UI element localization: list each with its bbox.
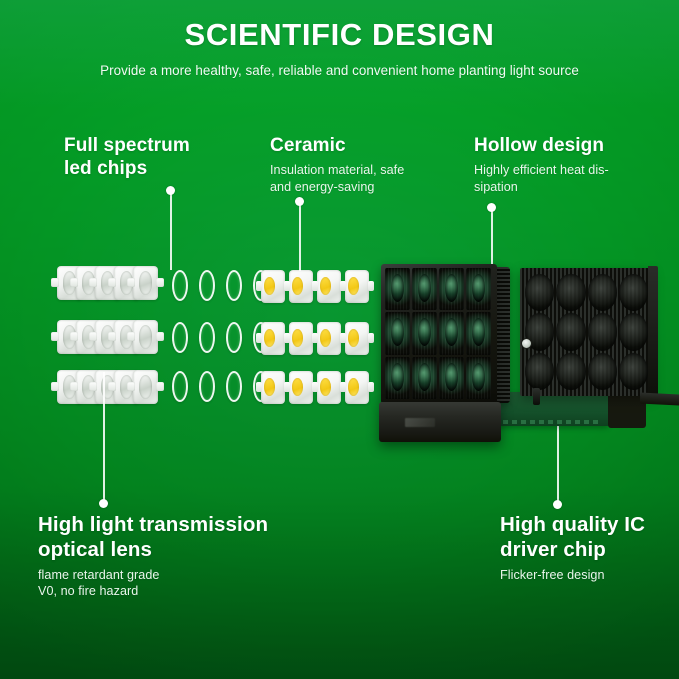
optical-lens-row — [172, 322, 269, 353]
led-chip-strip-row — [57, 266, 152, 300]
ceramic-led-package — [289, 371, 313, 404]
header: SCIENTIFIC DESIGN Provide a more healthy… — [0, 18, 679, 78]
callout-title: Ceramic — [270, 134, 470, 157]
optical-lens-ring — [172, 322, 188, 353]
front-lens-cell — [466, 312, 491, 354]
callout-title: High light transmission optical lens — [38, 512, 308, 562]
front-lens-cell — [385, 357, 410, 399]
leader-line-ic-driver-chip — [557, 418, 559, 506]
callout-title: High quality IC driver chip — [500, 512, 679, 562]
front-lens-cell — [466, 268, 491, 310]
front-lens-cell — [412, 312, 437, 354]
front-lens-cell — [412, 268, 437, 310]
led-grow-light-front-view — [381, 264, 514, 428]
leader-line-ceramic — [299, 201, 301, 271]
rear-heatsink-body — [520, 268, 653, 396]
rear-lens-bump — [556, 353, 585, 390]
front-lens-cell — [385, 312, 410, 354]
ceramic-led-package — [317, 270, 341, 303]
ceramic-led-package — [317, 371, 341, 404]
optical-lens-ring — [226, 322, 242, 353]
front-lens-cell — [466, 357, 491, 399]
leader-dot-ic-driver-chip — [553, 500, 562, 509]
leader-dot-led-chips — [166, 186, 175, 195]
led-grow-light-rear-view — [520, 268, 668, 420]
leader-dot-ceramic — [295, 197, 304, 206]
rear-lens-bump — [619, 313, 648, 350]
callout-high-quality-ic-driver-chip: High quality IC driver chip Flicker-free… — [500, 512, 679, 583]
callout-title: Full spectrum led chips — [64, 134, 274, 180]
rear-lens-bump — [588, 274, 617, 311]
rear-lens-bump — [556, 313, 585, 350]
brand-logo — [405, 418, 435, 427]
ceramic-led-package — [289, 322, 313, 355]
led-chip — [133, 320, 158, 354]
base-housing — [379, 402, 501, 442]
adjustment-knob-icon — [521, 338, 532, 349]
callout-subtitle: Highly efficient heat dis- sipation — [474, 162, 674, 195]
rear-lens-bump — [556, 274, 585, 311]
rear-lens-bump — [525, 353, 554, 390]
callout-title: Hollow design — [474, 134, 674, 157]
rear-lens-bump — [525, 274, 554, 311]
ceramic-package-row — [261, 322, 369, 355]
led-chip — [133, 370, 158, 404]
front-lens-cell — [412, 357, 437, 399]
rear-lens-bump — [619, 274, 648, 311]
optical-lens-ring — [226, 270, 242, 301]
leader-dot-optical-lens — [99, 499, 108, 508]
ceramic-package-row — [261, 371, 369, 404]
led-chip-strip-row — [57, 320, 152, 354]
callout-high-light-transmission-optical-lens: High light transmission optical lens fla… — [38, 512, 308, 600]
optical-lens-ring — [199, 371, 215, 402]
infographic-canvas: SCIENTIFIC DESIGN Provide a more healthy… — [0, 0, 679, 679]
page-title: SCIENTIFIC DESIGN — [0, 18, 679, 52]
callout-subtitle: Insulation material, safe and energy-sav… — [270, 162, 470, 195]
optical-lens-ring — [199, 270, 215, 301]
rear-lens-bump-grid — [525, 274, 648, 390]
optical-lens-row — [172, 371, 269, 402]
callout-subtitle: flame retardant grade V0, no fire hazard — [38, 567, 308, 600]
rear-lens-bump — [619, 353, 648, 390]
front-lens-grid — [385, 268, 491, 399]
leader-line-optical-lens — [103, 372, 105, 505]
led-head-housing — [381, 264, 497, 404]
ceramic-package-row — [261, 270, 369, 303]
leader-line-led-chips — [170, 190, 172, 270]
callout-subtitle: Flicker-free design — [500, 567, 679, 583]
ceramic-led-package — [345, 270, 369, 303]
page-subtitle: Provide a more healthy, safe, reliable a… — [0, 63, 679, 78]
rear-lens-bump — [588, 313, 617, 350]
front-lens-cell — [439, 357, 464, 399]
ceramic-led-package — [289, 270, 313, 303]
front-lens-cell — [385, 268, 410, 310]
optical-lens-ring — [172, 371, 188, 402]
screw-post — [533, 388, 540, 405]
ceramic-led-package — [261, 270, 285, 303]
front-lens-cell — [439, 312, 464, 354]
ceramic-led-package — [261, 322, 285, 355]
led-chip — [133, 266, 158, 300]
callout-hollow-design: Hollow design Highly efficient heat dis-… — [474, 134, 674, 195]
ceramic-led-package — [261, 371, 285, 404]
ceramic-led-package — [345, 371, 369, 404]
optical-lens-ring — [172, 270, 188, 301]
ceramic-led-package — [317, 322, 341, 355]
rear-side-edge — [648, 266, 658, 402]
callout-full-spectrum-led-chips: Full spectrum led chips — [64, 134, 274, 185]
leader-dot-hollow-design — [487, 203, 496, 212]
optical-lens-row — [172, 270, 269, 301]
callout-ceramic: Ceramic Insulation material, safe and en… — [270, 134, 470, 195]
optical-lens-ring — [199, 322, 215, 353]
front-lens-cell — [439, 268, 464, 310]
rear-lens-bump — [588, 353, 617, 390]
leader-line-hollow-design — [491, 207, 493, 269]
optical-lens-ring — [226, 371, 242, 402]
ceramic-led-package — [345, 322, 369, 355]
